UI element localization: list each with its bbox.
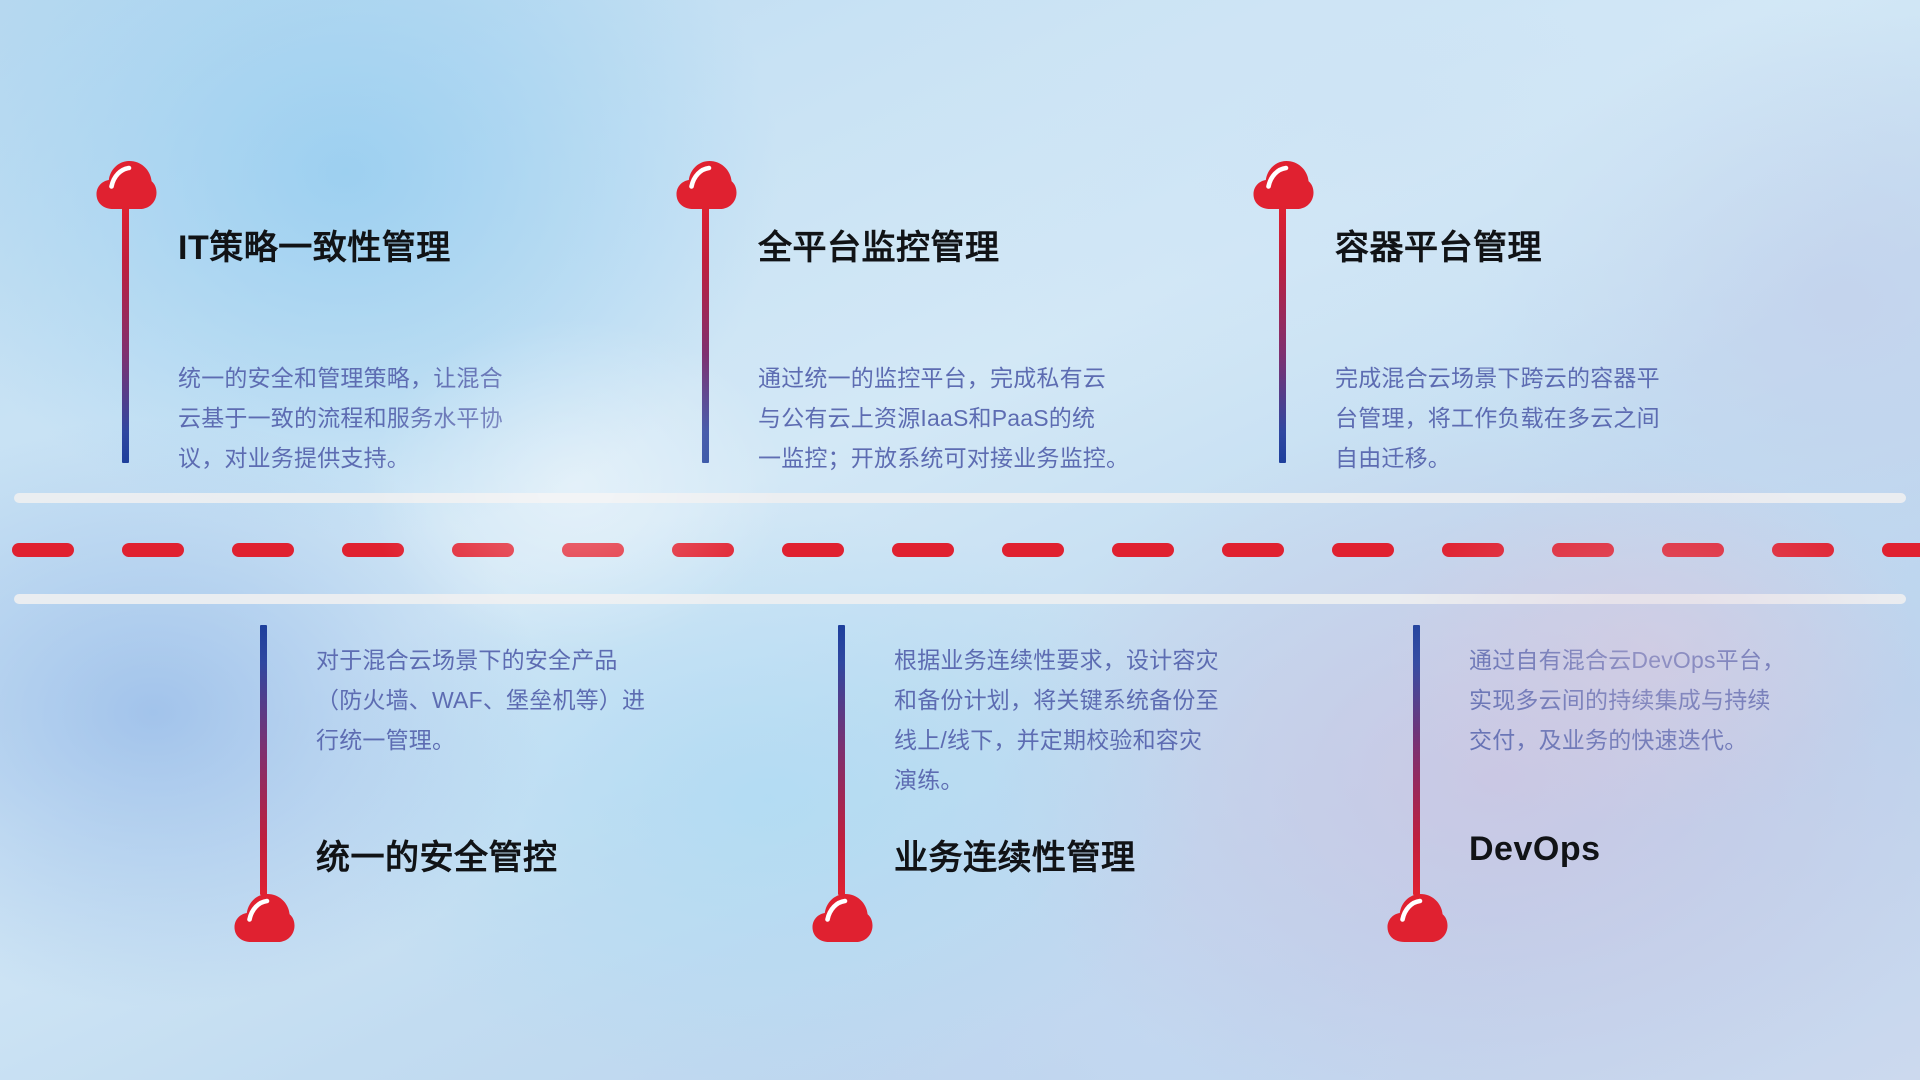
stem-line (122, 205, 129, 463)
top-item-1-title: IT策略一致性管理 (178, 220, 451, 269)
top-item-1-description: 统一的安全和管理策略，让混合 云基于一致的流程和服务水平协 议，对业务提供支持。 (178, 358, 608, 478)
top-item-3-title: 容器平台管理 (1335, 220, 1542, 269)
stem-line (838, 625, 845, 895)
top-item-3-description: 完成混合云场景下跨云的容器平 台管理，将工作负载在多云之间 自由迁移。 (1335, 358, 1785, 478)
upper-rail (14, 493, 1906, 503)
stem-line (702, 205, 709, 463)
cloud-icon (1252, 160, 1314, 210)
cloud-icon (233, 893, 295, 943)
lower-rail (14, 594, 1906, 604)
stem-line (1279, 205, 1286, 463)
bottom-item-2-title: 业务连续性管理 (894, 830, 1136, 879)
cloud-icon (1386, 893, 1448, 943)
bottom-item-1-description: 对于混合云场景下的安全产品 （防火墙、WAF、堡垒机等）进 行统一管理。 (316, 640, 746, 760)
dashed-center-line (0, 543, 1920, 557)
cloud-icon (811, 893, 873, 943)
cloud-icon (95, 160, 157, 210)
bottom-item-3-title: DevOps (1469, 830, 1601, 869)
top-item-2-title: 全平台监控管理 (758, 220, 1000, 269)
top-item-2-description: 通过统一的监控平台，完成私有云 与公有云上资源IaaS和PaaS的统 一监控；开… (758, 358, 1228, 478)
stem-line (260, 625, 267, 895)
bottom-item-2-description: 根据业务连续性要求，设计容灾 和备份计划，将关键系统备份至 线上/线下，并定期校… (894, 640, 1334, 800)
bottom-item-3-description: 通过自有混合云DevOps平台， 实现多云间的持续集成与持续 交付，及业务的快速… (1469, 640, 1889, 760)
stem-line (1413, 625, 1420, 895)
infographic-canvas: IT策略一致性管理 统一的安全和管理策略，让混合 云基于一致的流程和服务水平协 … (0, 0, 1920, 1080)
cloud-icon (675, 160, 737, 210)
bottom-item-1-title: 统一的安全管控 (316, 830, 558, 879)
